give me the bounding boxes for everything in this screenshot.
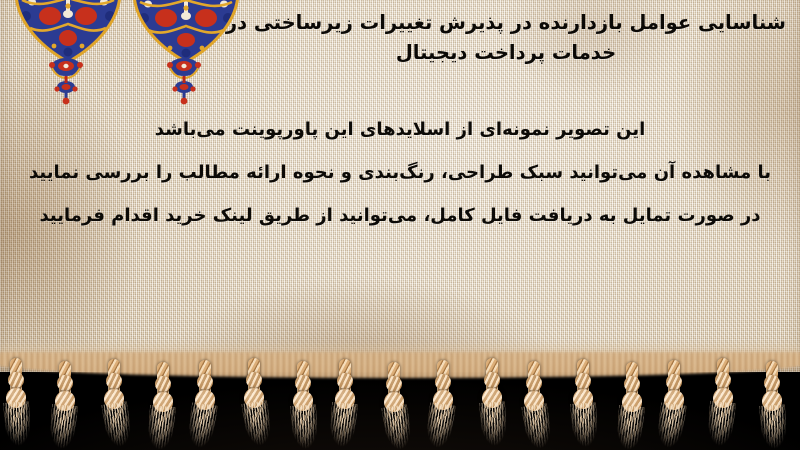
tassel-upper-knot bbox=[386, 376, 402, 392]
slide-body-line-1: این تصویر نمونه‌ای از اسلایدهای این پاور… bbox=[6, 108, 794, 151]
tassel-upper-knot bbox=[57, 375, 73, 391]
carpet-tassel bbox=[52, 361, 78, 450]
slide-body-line-2: با مشاهده آن می‌توانید سبک طراحی، رنگ‌بن… bbox=[6, 151, 794, 194]
tassel-upper-knot bbox=[435, 374, 451, 390]
tassel-brush bbox=[185, 402, 217, 450]
tassel-upper-knot bbox=[526, 375, 542, 391]
carpet-tassel bbox=[661, 360, 687, 450]
carpet-fringe bbox=[0, 358, 800, 450]
carpet-tassel bbox=[430, 360, 456, 450]
tassel-upper-knot bbox=[764, 375, 780, 391]
tassel-brush bbox=[654, 402, 686, 450]
tassel-brush bbox=[759, 404, 788, 450]
tassel-brush bbox=[101, 401, 134, 450]
carpet-tassel bbox=[241, 358, 267, 450]
tassel-upper-knot bbox=[246, 372, 262, 388]
carpet-tassel bbox=[381, 362, 407, 450]
carpet-tassel bbox=[570, 359, 596, 450]
tassel-brush bbox=[146, 405, 176, 450]
tassel-upper-knot bbox=[484, 372, 500, 388]
tassel-brush bbox=[615, 405, 645, 450]
carpet-tassel bbox=[3, 358, 29, 450]
tassel-upper-knot bbox=[155, 376, 171, 392]
presentation-slide: شناسایی عوامل بازدارنده در پذیرش تغییرات… bbox=[0, 0, 800, 450]
tassel-upper-knot bbox=[575, 373, 591, 389]
carpet-tassel bbox=[759, 361, 785, 450]
carpet-tassel bbox=[619, 362, 645, 450]
slide-title-line-1: شناسایی عوامل بازدارنده در پذیرش تغییرات… bbox=[226, 8, 786, 38]
slide-body: این تصویر نمونه‌ای از اسلایدهای این پاور… bbox=[6, 108, 794, 237]
tassel-brush bbox=[570, 402, 599, 450]
tassel-upper-knot bbox=[337, 373, 353, 389]
carpet-tassel bbox=[290, 361, 316, 450]
carpet-tassel bbox=[150, 362, 176, 450]
tassel-brush bbox=[3, 401, 32, 450]
tassel-upper-knot bbox=[624, 376, 640, 392]
carpet-tassel bbox=[710, 358, 736, 450]
tassel-brush bbox=[706, 401, 736, 450]
tassel-upper-knot bbox=[197, 374, 213, 390]
carpet-tassel bbox=[192, 360, 218, 450]
slide-title-line-2: خدمات پرداخت دیجیتال bbox=[226, 38, 786, 68]
tassel-brush bbox=[48, 404, 78, 450]
tassel-brush bbox=[328, 402, 358, 450]
tassel-brush bbox=[290, 404, 319, 450]
tassel-brush bbox=[521, 403, 554, 450]
tassel-brush bbox=[479, 401, 508, 450]
tassel-brush bbox=[241, 400, 274, 450]
tassel-upper-knot bbox=[295, 375, 311, 391]
carpet-tassel bbox=[521, 361, 547, 450]
slide-title: شناسایی عوامل بازدارنده در پذیرش تغییرات… bbox=[226, 8, 786, 68]
tassel-upper-knot bbox=[715, 372, 731, 388]
tassel-upper-knot bbox=[106, 373, 122, 389]
carpet-tassel bbox=[101, 359, 127, 450]
tassel-brush bbox=[423, 402, 455, 450]
carpet-tassel bbox=[479, 358, 505, 450]
tassel-upper-knot bbox=[8, 372, 24, 388]
tassel-brush bbox=[381, 404, 414, 450]
tassel-upper-knot bbox=[666, 374, 682, 390]
carpet-tassel bbox=[332, 359, 358, 450]
slide-body-line-3: در صورت تمایل به دریافت فایل کامل، می‌تو… bbox=[6, 194, 794, 237]
